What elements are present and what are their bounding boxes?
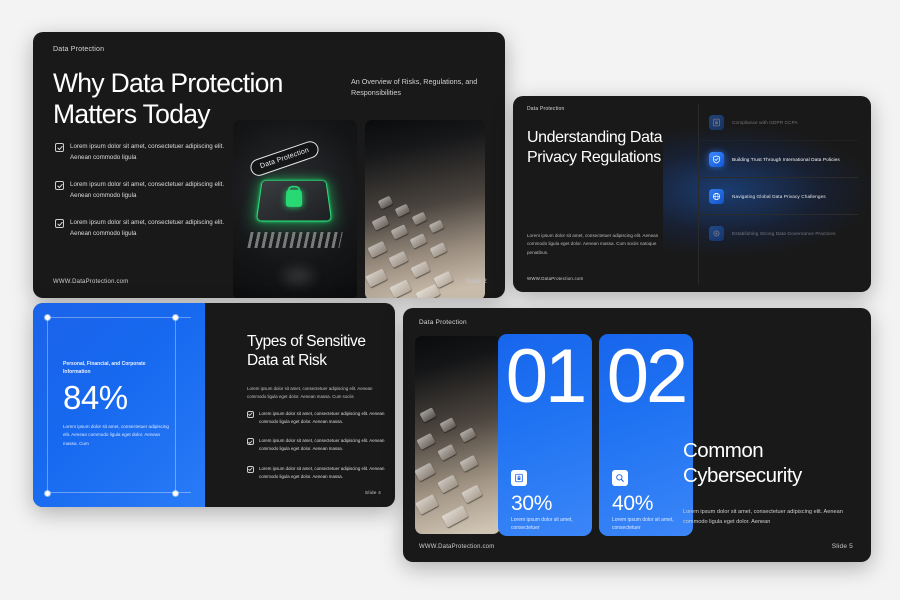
slide-2-why-data-protection[interactable]: Data Protection Why Data Protection Matt…: [33, 32, 505, 298]
gear-shield-icon: [709, 226, 724, 241]
list-item-establishing-governance[interactable]: Establishing Strong Data Governance Prac…: [699, 215, 858, 252]
list-item: Lorem ipsum dolor sit amet, consectetuer…: [247, 465, 393, 480]
footer-url[interactable]: WWW.DataProtection.com: [419, 544, 494, 550]
laptop-keyboard-photo: [365, 120, 485, 298]
list-item-label: Navigating Global Data Privacy Challenge…: [732, 194, 826, 199]
slide-eyebrow: Data Protection: [419, 319, 467, 326]
slide-number: Slide 4: [365, 491, 381, 496]
list-item: Lorem ipsum dolor sit amet, consectetuer…: [247, 410, 393, 425]
stat-paragraph: Lorem ipsum dolor sit amet, consectetuer…: [63, 423, 175, 448]
checkbox-icon: [55, 181, 64, 190]
body-paragraph: Lorem ipsum dolor sit amet, consectetuer…: [527, 232, 669, 257]
document-lock-icon: [511, 470, 527, 486]
slide-4-content: Types of Sensitive Data at Risk Lorem ip…: [213, 303, 395, 507]
list-item-label: Lorem ipsum dolor sit amet, consectetuer…: [259, 465, 393, 480]
globe-grid-icon: [709, 189, 724, 204]
page-subtitle: An Overview of Risks, Regulations, and R…: [351, 76, 501, 98]
statistic-panel: Personal, Financial, and Corporate Infor…: [33, 303, 205, 507]
list-item-label: Lorem ipsum dolor sit amet, consectetuer…: [259, 437, 393, 452]
slide-number: Slide 5: [832, 543, 853, 550]
checkbox-icon: [55, 143, 64, 152]
chip-lock-glyph: [256, 180, 332, 222]
slide-4-types-of-sensitive-data[interactable]: Personal, Financial, and Corporate Infor…: [33, 303, 395, 507]
shield-check-icon: [709, 152, 724, 167]
document-lock-icon: [709, 115, 724, 130]
slide-eyebrow: Data Protection: [53, 46, 104, 53]
chip-pins: [247, 232, 342, 248]
list-item-label: Lorem ipsum dolor sit amet, consectetuer…: [70, 180, 235, 201]
slide-2-media-group: [233, 120, 485, 298]
stat-value: 84%: [63, 379, 128, 417]
list-item-navigating-global[interactable]: Navigating Global Data Privacy Challenge…: [699, 178, 858, 215]
list-item-compliance-gdpr[interactable]: Compliance with GDPR CCPA: [699, 104, 858, 141]
bullet-list: Lorem ipsum dolor sit amet, consectetuer…: [247, 410, 393, 492]
footer-url[interactable]: WWW.DataProtection.com: [53, 279, 128, 285]
keyboard-keys: [415, 336, 500, 534]
card-number: 02: [607, 342, 686, 412]
card-text: Lorem ipsum dolor sit amet, consectetuer: [612, 516, 684, 533]
search-shield-icon: [612, 470, 628, 486]
page-title: Understanding Data Privacy Regulations: [527, 128, 707, 167]
stat-card-01[interactable]: 01 30% Lorem ipsum dolor sit amet, conse…: [498, 334, 592, 536]
checkbox-icon: [247, 438, 254, 445]
card-percent: 30%: [511, 492, 552, 516]
regulations-list: Compliance with GDPR CCPA Building Trust…: [698, 104, 858, 284]
slide-number: Slide 2: [466, 278, 487, 285]
bokeh-highlight: [283, 268, 313, 284]
list-item: Lorem ipsum dolor sit amet, consectetuer…: [55, 218, 235, 239]
body-paragraph: Lorem ipsum dolor sit amet, consectetuer…: [683, 508, 855, 528]
list-item: Lorem ipsum dolor sit amet, consectetuer…: [55, 180, 235, 201]
card-number: 01: [506, 342, 585, 412]
presentation-thumbnail-board: Data Protection Why Data Protection Matt…: [0, 0, 900, 600]
list-item-building-trust[interactable]: Building Trust Through International Dat…: [699, 141, 858, 178]
list-item: Lorem ipsum dolor sit amet, consectetuer…: [55, 142, 235, 163]
list-item-label: Lorem ipsum dolor sit amet, consectetuer…: [70, 142, 235, 163]
list-item-label: Building Trust Through International Dat…: [732, 157, 840, 162]
checkbox-icon: [55, 219, 64, 228]
slide-5-common-cybersecurity[interactable]: Data Protection 01 30% Lorem: [403, 308, 871, 562]
stat-label: Personal, Financial, and Corporate Infor…: [63, 360, 173, 376]
page-title: Common Cybersecurity: [683, 438, 861, 488]
card-percent: 40%: [612, 492, 653, 516]
list-item-label: Lorem ipsum dolor sit amet, consectetuer…: [70, 218, 235, 239]
body-paragraph: Lorem ipsum dolor sit amet, consectetuer…: [247, 385, 389, 400]
footer-url[interactable]: WWW.DataProtection.com: [527, 276, 583, 281]
card-text: Lorem ipsum dolor sit amet, consectetuer: [511, 516, 583, 533]
stat-card-02[interactable]: 02 40% Lorem ipsum dolor sit amet, conse…: [599, 334, 693, 536]
list-item-label: Establishing Strong Data Governance Prac…: [732, 231, 836, 236]
list-item-label: Lorem ipsum dolor sit amet, consectetuer…: [259, 410, 393, 425]
checkbox-icon: [247, 411, 254, 418]
laptop-keyboard-photo: [415, 336, 500, 534]
list-item-label: Compliance with GDPR CCPA: [732, 120, 798, 125]
keyboard-keys: [365, 120, 485, 298]
page-title: Types of Sensitive Data at Risk: [247, 333, 395, 370]
slide-eyebrow: Data Protection: [527, 106, 564, 112]
bullet-list: Lorem ipsum dolor sit amet, consectetuer…: [55, 142, 235, 256]
list-item: Lorem ipsum dolor sit amet, consectetuer…: [247, 437, 393, 452]
checkbox-icon: [247, 466, 254, 473]
slide-3-understanding-data-privacy[interactable]: Data Protection Understanding Data Priva…: [513, 96, 871, 292]
